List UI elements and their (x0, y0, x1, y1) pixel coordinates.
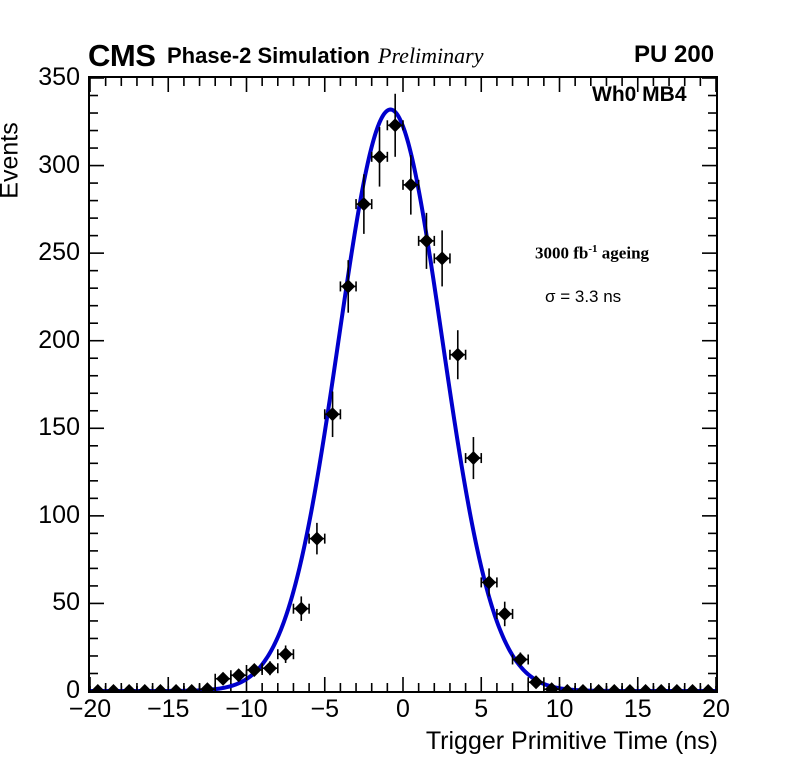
x-tick-label: −20 (69, 697, 111, 722)
pileup-label: PU 200 (634, 43, 714, 67)
data-point (153, 684, 169, 691)
plot-canvas: CMS Phase-2 Simulation Preliminary PU 20… (0, 0, 796, 772)
y-tick-label: 250 (2, 240, 80, 265)
marker-diamond (185, 684, 199, 691)
marker-diamond (138, 684, 152, 691)
marker-diamond (106, 684, 120, 691)
marker-diamond (91, 684, 105, 691)
sigma-annotation: σ = 3.3 ns (545, 288, 621, 305)
plot-svg (90, 78, 716, 691)
data-point (450, 330, 466, 379)
marker-diamond (310, 532, 324, 546)
data-point (168, 684, 184, 691)
data-point (403, 155, 419, 215)
marker-diamond (341, 279, 355, 293)
lumi-suffix: ageing (598, 244, 649, 263)
marker-diamond (686, 684, 700, 691)
data-point (278, 645, 294, 663)
data-point (591, 684, 607, 691)
marker-diamond (279, 647, 293, 661)
y-tick-label: 300 (2, 153, 80, 178)
y-tick-label: 100 (2, 503, 80, 528)
data-point (622, 684, 638, 691)
x-tick-label: 0 (396, 697, 410, 722)
marker-diamond (419, 234, 433, 248)
y-tick-label: 200 (2, 328, 80, 353)
data-point (309, 523, 325, 555)
data-point (685, 684, 701, 691)
marker-diamond (200, 682, 214, 691)
marker-diamond (592, 684, 606, 691)
marker-diamond (654, 684, 668, 691)
axis-ticks (90, 78, 716, 691)
data-point (669, 684, 685, 691)
marker-diamond (498, 607, 512, 621)
marker-diamond (701, 684, 715, 691)
marker-diamond (169, 684, 183, 691)
data-point (700, 684, 716, 691)
marker-diamond (373, 150, 387, 164)
data-point (215, 672, 231, 686)
data-point (434, 230, 450, 286)
data-points (90, 94, 716, 691)
x-tick-label: −15 (147, 697, 189, 722)
cms-logo: CMS (88, 40, 155, 71)
lumi-value: 3000 fb (535, 244, 588, 263)
marker-diamond (294, 602, 308, 616)
y-tick-label: 150 (2, 415, 80, 440)
y-tick-label: 350 (2, 65, 80, 90)
data-point (513, 652, 529, 666)
chamber-label: Wh0 MB4 (592, 84, 687, 105)
marker-diamond (466, 451, 480, 465)
x-tick-label: 10 (546, 697, 574, 722)
y-axis-tick-labels: 050100150200250300350 (0, 0, 80, 772)
marker-diamond (607, 684, 621, 691)
lumi-exponent: -1 (588, 243, 597, 255)
data-point (106, 684, 122, 691)
x-axis-title: Trigger Primitive Time (ns) (426, 729, 718, 754)
plot-frame (88, 76, 718, 693)
data-point (653, 684, 669, 691)
data-point (606, 684, 622, 691)
marker-diamond (513, 652, 527, 666)
cms-header: CMS Phase-2 Simulation Preliminary PU 20… (0, 0, 796, 76)
data-point (293, 596, 309, 621)
marker-diamond (451, 348, 465, 362)
marker-diamond (216, 672, 230, 686)
marker-diamond (122, 684, 136, 691)
data-point (387, 94, 403, 157)
data-point (121, 684, 137, 691)
data-point (356, 174, 372, 234)
data-point (90, 684, 106, 691)
marker-diamond (623, 684, 637, 691)
y-tick-label: 50 (2, 590, 80, 615)
data-point (466, 437, 482, 479)
x-tick-label: −5 (310, 697, 339, 722)
marker-diamond (435, 251, 449, 265)
x-tick-label: 15 (624, 697, 652, 722)
marker-diamond (153, 684, 167, 691)
cms-preliminary-label: Preliminary (378, 45, 484, 67)
x-tick-label: 20 (702, 697, 730, 722)
x-tick-label: 5 (474, 697, 488, 722)
marker-diamond (576, 684, 590, 691)
data-point (200, 682, 216, 691)
data-point (575, 684, 591, 691)
cms-subtitle: Phase-2 Simulation (167, 45, 370, 67)
marker-diamond (670, 684, 684, 691)
data-point (184, 684, 200, 691)
x-tick-label: −10 (225, 697, 267, 722)
luminosity-annotation: 3000 fb-1 ageing (535, 241, 649, 262)
gaussian-fit-curve (90, 110, 716, 691)
marker-diamond (639, 684, 653, 691)
data-point (137, 684, 153, 691)
data-point (638, 684, 654, 691)
